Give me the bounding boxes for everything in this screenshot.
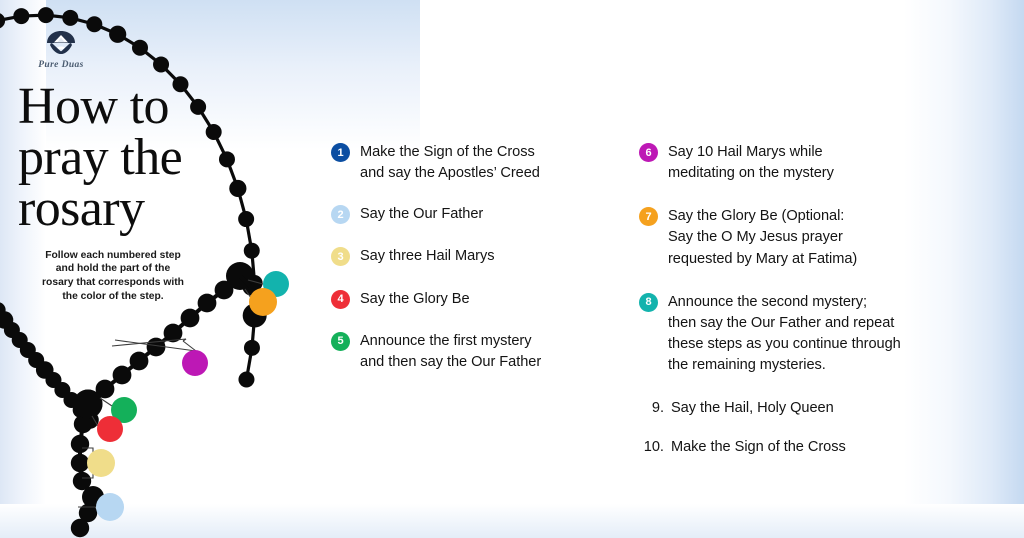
step-text-line: Announce the second mystery; [668, 292, 901, 313]
step-badge-7: 7 [639, 207, 658, 226]
page-subtitle-line-1: Follow each numbered step [18, 249, 208, 263]
step-text-line: the remaining mysteries. [668, 355, 901, 376]
page-subtitle-line-4: the color of the step. [18, 290, 208, 304]
rosary-bead [71, 454, 89, 472]
brand-name: Pure Duas [30, 60, 92, 70]
marker-dot-orange[interactable] [249, 288, 277, 316]
step-text: Say three Hail Marys [360, 246, 494, 267]
step-text-line: Say the Glory Be [360, 289, 470, 310]
step-text: Say 10 Hail Marys whilemeditating on the… [668, 142, 834, 184]
step-item-10[interactable]: 10.Make the Sign of the Cross [640, 437, 989, 458]
step-text: Say the Hail, Holy Queen [671, 398, 834, 419]
marker-dot-yellow[interactable] [87, 449, 115, 477]
page-title-line-3: rosary [18, 184, 248, 235]
steps-column-right: 6Say 10 Hail Marys whilemeditating on th… [639, 142, 989, 475]
steps-column-left: 1Make the Sign of the Crossand say the A… [331, 142, 617, 393]
step-item-3[interactable]: 3Say three Hail Marys [331, 246, 617, 267]
step-text-line: Make the Sign of the Cross [671, 437, 846, 458]
page-subtitle-line-3: rosary that corresponds with [18, 276, 208, 290]
step-text-line: requested by Mary at Fatima) [668, 249, 857, 270]
mountain-hands-emblem-icon [44, 29, 78, 59]
step-item-4[interactable]: 4Say the Glory Be [331, 289, 617, 310]
page-title-line-1: How to [18, 82, 248, 133]
rosary-bead [71, 519, 89, 537]
rosary-bead [238, 372, 254, 388]
step-badge-8: 8 [639, 293, 658, 312]
marker-dot-red[interactable] [97, 416, 123, 442]
step-text-line: and say the Apostles’ Creed [360, 163, 540, 184]
step-badge-5: 5 [331, 332, 350, 351]
page-title-line-2: pray the [18, 133, 248, 184]
step-item-1[interactable]: 1Make the Sign of the Crossand say the A… [331, 142, 617, 184]
rosary-bead [181, 309, 200, 328]
step-number-10: 10. [640, 437, 664, 458]
step-badge-1: 1 [331, 143, 350, 162]
brand-logo: Pure Duas [30, 29, 92, 70]
step-badge-4: 4 [331, 290, 350, 309]
step-text-line: Say three Hail Marys [360, 246, 494, 267]
marker-dot-lightblue[interactable] [96, 493, 124, 521]
step-text: Say the Our Father [360, 204, 483, 225]
step-text: Make the Sign of the Cross [671, 437, 846, 458]
rosary-bead [113, 366, 132, 385]
step-text: Announce the first mysteryand then say t… [360, 331, 541, 373]
rosary-bead [96, 380, 115, 399]
step-text: Announce the second mystery;then say the… [668, 292, 901, 377]
page-subtitle-line-2: and hold the part of the [18, 262, 208, 276]
step-item-2[interactable]: 2Say the Our Father [331, 204, 617, 225]
rosary-bead [62, 10, 78, 26]
step-text-line: Say the Hail, Holy Queen [671, 398, 834, 419]
step-badge-6: 6 [639, 143, 658, 162]
step-badge-3: 3 [331, 247, 350, 266]
rosary-bead [71, 435, 89, 453]
rosary-bead [38, 7, 54, 23]
step-badge-2: 2 [331, 205, 350, 224]
step-item-9[interactable]: 9.Say the Hail, Holy Queen [640, 398, 989, 419]
step-text-line: meditating on the mystery [668, 163, 834, 184]
step-text-line: Announce the first mystery [360, 331, 541, 352]
step-text-line: Make the Sign of the Cross [360, 142, 540, 163]
step-text-line: Say 10 Hail Marys while [668, 142, 834, 163]
page-title: How to pray the rosary [18, 82, 248, 235]
step-text-line: Say the O My Jesus prayer [668, 227, 857, 248]
rosary-bead [13, 8, 29, 24]
step-text: Make the Sign of the Crossand say the Ap… [360, 142, 540, 184]
step-item-5[interactable]: 5Announce the first mysteryand then say … [331, 331, 617, 373]
title-block: How to pray the rosary Follow each numbe… [18, 82, 248, 303]
rosary-bead [0, 13, 5, 29]
step-item-6[interactable]: 6Say 10 Hail Marys whilemeditating on th… [639, 142, 989, 184]
step-text-line: Say the Glory Be (Optional: [668, 206, 857, 227]
marker-dot-magenta[interactable] [182, 350, 208, 376]
step-text-line: these steps as you continue through [668, 334, 901, 355]
step-text: Say the Glory Be [360, 289, 470, 310]
step-text-line: and then say the Our Father [360, 352, 541, 373]
rosary-bead [132, 40, 148, 56]
step-text-line: then say the Our Father and repeat [668, 313, 901, 334]
step-item-7[interactable]: 7Say the Glory Be (Optional:Say the O My… [639, 206, 989, 269]
step-text: Say the Glory Be (Optional:Say the O My … [668, 206, 857, 269]
rosary-color-markers [87, 271, 289, 521]
rosary-bead [153, 56, 169, 72]
step-text-line: Say the Our Father [360, 204, 483, 225]
rosary-bead [109, 26, 126, 43]
step-item-8[interactable]: 8Announce the second mystery;then say th… [639, 292, 989, 377]
page-subtitle: Follow each numbered step and hold the p… [18, 249, 208, 303]
rosary-bead [130, 352, 149, 371]
rosary-bead [244, 340, 260, 356]
step-number-9: 9. [640, 398, 664, 419]
infographic-canvas: Pure Duas How to pray the rosary Follow … [0, 0, 1024, 538]
